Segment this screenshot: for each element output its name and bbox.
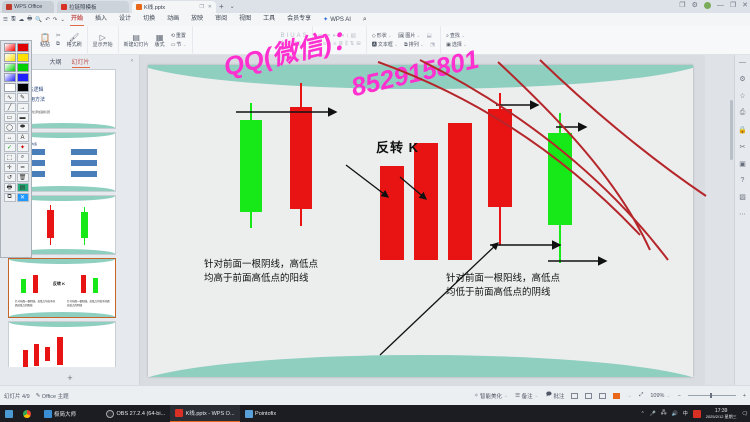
- qat-cloud-icon[interactable]: ☁: [19, 17, 25, 23]
- notes-label: 备注: [522, 392, 533, 400]
- thumb-band-top: [9, 259, 115, 264]
- color-swatch-blue[interactable]: [17, 73, 29, 82]
- taskbar-item-obs-label: OBS 27.2.4 (64-bi...: [117, 411, 166, 417]
- section-caret-icon[interactable]: ⌄: [182, 42, 186, 48]
- ime-icon[interactable]: 中: [683, 410, 688, 417]
- layout-label: 版式: [155, 42, 165, 48]
- document-tab-1[interactable]: 拉链照模板: [57, 1, 129, 13]
- tool-row-1: ∿ ✎: [4, 93, 29, 102]
- thumb-5-candle-3: [45, 347, 50, 361]
- tab-menu-caret-icon[interactable]: ⌄: [227, 1, 238, 13]
- textbox-icon: 🅰: [372, 41, 377, 48]
- candlestick-1-body: [240, 120, 262, 212]
- shapes-label: 形状: [377, 32, 387, 39]
- wps-logo-icon: [6, 4, 12, 10]
- new-slide-button[interactable]: ▤ 新建幻灯片: [122, 33, 151, 48]
- help-icon[interactable]: ?: [741, 177, 745, 184]
- rectangle-icon[interactable]: ▭: [4, 113, 16, 122]
- shapes-caret-icon[interactable]: ⌄: [388, 33, 392, 39]
- zoom-slider[interactable]: [688, 395, 736, 396]
- ellipse-icon[interactable]: ◯: [4, 123, 16, 132]
- start-show-label: 显示开始: [93, 42, 113, 48]
- tool-row-2: ╱ →: [4, 103, 29, 112]
- wps-home-tab[interactable]: WPS Office: [2, 1, 54, 13]
- slide-thumbnail-4[interactable]: 反转 K 针对前面一根阴线，高低点均高于前面高低点的阳线 针对前面一根阳线，高低…: [8, 258, 116, 318]
- zoom-level[interactable]: 109% ⌄: [650, 393, 670, 399]
- slide-thumbnail-5[interactable]: 这里是最下的那根阳线是最大的，后面的，往上的大多都是下破的阳线，往下的阳线，大致…: [8, 321, 116, 367]
- reading-view-icon[interactable]: [599, 393, 606, 399]
- volume-icon[interactable]: 🔊: [671, 411, 677, 417]
- pointofix-toolbar[interactable]: ∿ ✎ ╱ → ▭ ▬ ◯ ⬬ ↔ A ✓ ✦ ⬚ ⌕ ✛ ━ ↺ 🗑 🖶 ▤ …: [0, 40, 32, 258]
- add-slide-button[interactable]: +: [0, 373, 140, 383]
- settings-icon[interactable]: ⚙: [739, 75, 745, 83]
- shapes-icon[interactable]: ✂: [740, 143, 746, 151]
- filled-ellipse-icon[interactable]: ⬬: [17, 123, 29, 132]
- chrome-icon: [23, 410, 31, 418]
- ribbon-tab-design[interactable]: 设计: [113, 13, 137, 26]
- system-tray: ⌃ 🎤 🖧 🔊 中 17:39 2025/2/12 星期三 🗨: [640, 408, 748, 419]
- favorite-icon[interactable]: ☆: [739, 92, 745, 100]
- thumb-5-candle-1: [23, 350, 28, 367]
- ribbon-tab-bar: ☰ 🖫 ☁ 🖶 🔍 ↶ ↷ ⌄ 开始 插入 设计 切换 动画 放映 审阅 视图 …: [0, 13, 750, 26]
- group-objects-icon[interactable]: ⬔: [430, 42, 435, 48]
- shapes-icon: ◇: [372, 33, 376, 39]
- notes-caret-icon[interactable]: ⌄: [534, 393, 539, 399]
- thumb-band-bottom: [9, 312, 115, 317]
- tool-row-3: ▭ ▬: [4, 113, 29, 122]
- slide-sorter-icon[interactable]: [585, 393, 592, 399]
- folder-icon: [44, 410, 52, 418]
- candlestick-4-body: [414, 143, 438, 260]
- tool-row-8: ✛ ━: [4, 163, 29, 172]
- candlestick-3: [380, 166, 404, 260]
- section-icon: ▭: [171, 42, 176, 48]
- reset-button[interactable]: ⟲ 重置: [171, 32, 187, 39]
- shapes-button[interactable]: ◇ 形状 ⌄: [372, 32, 392, 39]
- beautify-caret-icon[interactable]: ⌄: [504, 393, 509, 399]
- close-button[interactable]: ✕: [742, 1, 748, 9]
- layout-button[interactable]: ▦ 版式: [153, 33, 167, 48]
- text-icon[interactable]: A: [17, 133, 29, 142]
- feedback-icon[interactable]: ▨: [739, 193, 746, 201]
- line-icon[interactable]: ╱: [4, 103, 16, 112]
- windows-start-icon: [5, 410, 13, 418]
- slideshow-icon[interactable]: [613, 393, 620, 399]
- document-tab-2-label: K线.pptx: [144, 3, 165, 11]
- print-icon[interactable]: 🖶: [4, 183, 16, 192]
- color-row-3: [4, 63, 29, 72]
- thumb-4-candle-1: [21, 279, 26, 293]
- quick-access-toolbar: ☰ 🖫 ☁ 🖶 🔍 ↶ ↷ ⌄: [0, 15, 65, 24]
- copy-icon[interactable]: ⧉: [56, 41, 61, 48]
- note-right: 针对前面一根阳线，高低点 均低于前面高低点的阴线: [446, 273, 560, 301]
- minimize-button[interactable]: —: [717, 2, 724, 9]
- comments-icon: 🗩: [546, 391, 552, 400]
- current-slide[interactable]: 反转 K 针对前面一根阴线，高低点 均高于前面高低点的阳线 针对前面一根阳线，高…: [148, 65, 693, 377]
- zoom-out-button[interactable]: −: [678, 393, 681, 399]
- close-icon[interactable]: ✕: [17, 193, 29, 202]
- color-swatch-green[interactable]: [17, 63, 29, 72]
- filled-rect-icon[interactable]: ▬: [17, 113, 29, 122]
- ribbon-tab-transition[interactable]: 切换: [137, 13, 161, 26]
- arrange-label: 排列: [409, 41, 419, 48]
- section-label: 节: [176, 41, 181, 48]
- avatar[interactable]: [704, 2, 711, 9]
- comments-button[interactable]: 🗩 批注: [546, 391, 565, 400]
- note-right-line2: 均低于前面高低点的阴线: [446, 287, 560, 301]
- paste-label: 粘贴: [40, 42, 50, 48]
- slide-editing-stage: 反转 K 针对前面一根阴线，高低点 均高于前面高低点的阳线 针对前面一根阳线，高…: [140, 55, 705, 385]
- picture-caret-icon[interactable]: ⌄: [416, 33, 420, 39]
- find-caret-icon[interactable]: ⌄: [461, 33, 465, 39]
- notes-icon: ☰: [515, 393, 520, 399]
- restore-down-icon[interactable]: ❐: [679, 1, 685, 9]
- thumb-2-box-2: [71, 149, 97, 155]
- tool-row-9: ↺ 🗑: [4, 173, 29, 182]
- find-label: 查找: [450, 32, 460, 39]
- paste-button[interactable]: 📋 粘贴: [38, 33, 52, 48]
- thumb-4-label: 反转 K: [53, 281, 65, 287]
- qat-preview-icon[interactable]: 🔍: [35, 17, 42, 23]
- new-slide-icon: ▤: [132, 33, 140, 42]
- find-button[interactable]: ⌕ 查找 ⌄: [446, 32, 467, 39]
- normal-view-icon[interactable]: [571, 393, 578, 399]
- ribbon-tab-slideshow[interactable]: 放映: [185, 13, 209, 26]
- slide-content: 反转 K 针对前面一根阴线，高低点 均高于前面高低点的阳线 针对前面一根阳线，高…: [148, 65, 693, 377]
- tray-date: 2025/2/12 星期三: [706, 414, 737, 419]
- ppt-icon: [136, 4, 142, 10]
- tool-row-4: ◯ ⬬: [4, 123, 29, 132]
- color-swatch-red[interactable]: [17, 43, 29, 52]
- status-bar: 幻灯片 4/9 ✎ Office 主题 ✧ 智能美化 ⌄ ☰ 备注 ⌄ 🗩 批注: [0, 385, 750, 405]
- tray-chevron-icon[interactable]: ⌃: [640, 411, 644, 417]
- beautify-icon: ✧: [474, 393, 479, 399]
- wps-home-tab-label: WPS Office: [14, 4, 42, 10]
- settings-gear-icon[interactable]: ⚙: [692, 1, 698, 9]
- zoom-caret-icon[interactable]: ⌄: [666, 393, 671, 399]
- ribbon-tab-home[interactable]: 开始: [65, 13, 89, 26]
- candlestick-7-body: [548, 133, 572, 225]
- tool-row-10: 🖶 ▤: [4, 183, 29, 192]
- maximize-button[interactable]: ❐: [730, 1, 736, 9]
- candlestick-6: [488, 93, 512, 245]
- zoom-in-icon[interactable]: ✛: [4, 163, 16, 172]
- stamp-icon[interactable]: ✦: [17, 143, 29, 152]
- tray-app-icon[interactable]: [693, 410, 701, 418]
- save-icon[interactable]: ▤: [17, 183, 29, 192]
- ribbon-group-slideshow: ▷ 显示开始: [88, 26, 119, 55]
- thumb-3-wick-red: [50, 205, 51, 245]
- align-objects-icon[interactable]: ⬓: [427, 33, 432, 39]
- notification-icon[interactable]: 🗨: [742, 411, 748, 417]
- freehand-icon[interactable]: ∿: [4, 93, 16, 102]
- window-controls: ❐ ⚙ — ❐ ✕: [679, 1, 748, 9]
- note-right-line1: 针对前面一根阳线，高低点: [446, 273, 560, 287]
- ribbon-tab-view[interactable]: 视图: [233, 13, 257, 26]
- textbox-label: 文本框: [378, 41, 393, 48]
- note-left: 针对前面一根阴线，高低点 均高于前面高低点的阳线: [204, 259, 318, 287]
- slide-counter: 幻灯片 4/9: [4, 392, 30, 400]
- color-swatch-yellow[interactable]: [17, 53, 29, 62]
- taskbar-item-chrome[interactable]: [18, 405, 39, 422]
- color-swatch-white[interactable]: [4, 83, 16, 92]
- theme-item[interactable]: ✎ Office 主题: [36, 392, 69, 400]
- comments-label: 批注: [553, 392, 564, 400]
- arrow-icon[interactable]: →: [17, 103, 29, 112]
- fit-to-window-icon[interactable]: ⤢: [639, 392, 643, 399]
- document-tab-1-label: 拉链照模板: [69, 3, 97, 11]
- thumb-4-note-left: 针对前面一根阴线，高低点均高于前面高低点的阳线: [15, 299, 57, 307]
- candlestick-2-body: [290, 107, 312, 209]
- tool-row-5: ↔ A: [4, 133, 29, 142]
- more-icon[interactable]: ⋯: [739, 210, 746, 218]
- ribbon-tab-animation[interactable]: 动画: [161, 13, 185, 26]
- search-icon: ⌕: [446, 33, 449, 39]
- collapse-panel-icon[interactable]: ‹: [131, 58, 133, 64]
- select-icon: ▣: [446, 42, 451, 48]
- thumb-4-note-right: 针对前面一根阳线，高低点均低于前面高低点的阴线: [67, 299, 111, 307]
- candlestick-3-body: [380, 166, 404, 260]
- clipboard-small-buttons: ✂ ⧉: [54, 26, 63, 55]
- thumbnail-wrapper-4: 反转 K 针对前面一根阴线，高低点均高于前面高低点的阳线 针对前面一根阳线，高低…: [8, 258, 132, 318]
- picture-label: 图片: [405, 32, 415, 39]
- qat-undo-icon[interactable]: ↶: [45, 17, 50, 23]
- taskbar-item-wps[interactable]: K线.pptx - WPS O...: [170, 405, 239, 422]
- paste-icon: 📋: [40, 33, 50, 42]
- new-slide-label: 新建幻灯片: [124, 42, 149, 48]
- candlestick-5: [448, 123, 472, 260]
- color-swatch-black[interactable]: [17, 83, 29, 92]
- color-swatch-yellow-gradient[interactable]: [4, 53, 16, 62]
- highlighter-icon[interactable]: ✓: [4, 143, 16, 152]
- slides-tab[interactable]: 幻灯片: [72, 57, 90, 66]
- taskbar-item-pointofix-label: Pointofix: [255, 411, 276, 417]
- textbox-caret-icon[interactable]: ⌄: [394, 42, 398, 48]
- pen-icon[interactable]: ✎: [17, 93, 29, 102]
- status-right: ✧ 智能美化 ⌄ ☰ 备注 ⌄ 🗩 批注 ⌄ ⤢ 109% ⌄: [474, 391, 746, 400]
- qat-save-icon[interactable]: 🖫: [11, 15, 16, 24]
- drawing-row-2: 🅰 文本框 ⌄ ⧉ 排列 ⌄ ⬔: [372, 41, 435, 48]
- slides-small-buttons: ⟲ 重置 ▭ 节 ⌄: [169, 26, 189, 55]
- thumb-band-top: [9, 322, 115, 327]
- tab-close-icon[interactable]: ✕: [208, 4, 212, 10]
- slideshow-caret-icon[interactable]: ⌄: [627, 393, 632, 399]
- ribbon-group-drawing: ◇ 形状 ⌄ 🖼 图片 ⌄ ⬓ 🅰 文本框 ⌄: [367, 26, 441, 55]
- reset-label: 重置: [176, 32, 186, 39]
- ribbon-tab-member[interactable]: 会员专享: [281, 13, 317, 26]
- ribbon-group-slides: ▤ 新建幻灯片 ▦ 版式 ⟲ 重置 ▭ 节 ⌄: [119, 26, 193, 55]
- windows-taskbar: 极简大师 OBS 27.2.4 (64-bi... K线.pptx - WPS …: [0, 405, 750, 422]
- outline-tab[interactable]: 大纲: [49, 57, 61, 66]
- tool-row-6: ✓ ✦: [4, 143, 29, 152]
- candlestick-1: [240, 103, 262, 228]
- thumb-4-candle-2: [33, 275, 38, 293]
- play-icon: ▷: [100, 33, 106, 42]
- thumb-4-candle-4: [93, 278, 98, 293]
- drawing-buttons: ◇ 形状 ⌄ 🖼 图片 ⌄ ⬓ 🅰 文本框 ⌄: [370, 26, 437, 55]
- tool-row-7: ⬚ ⌕: [4, 153, 29, 162]
- double-arrow-icon[interactable]: ↔: [4, 133, 16, 142]
- taskbar-item-folder-label: 极简大师: [54, 410, 76, 418]
- zoom-icon[interactable]: ⌕: [17, 153, 29, 162]
- theme-icon: ✎: [36, 393, 41, 399]
- beautify-label: 智能美化: [480, 392, 502, 400]
- color-swatch-red-gradient[interactable]: [4, 43, 16, 52]
- qat-redo-icon[interactable]: ↷: [53, 17, 58, 23]
- taskbar-item-folder[interactable]: 极简大师: [39, 405, 82, 422]
- thumb-5-candle-4: [57, 337, 63, 365]
- theme-label: Office 主题: [42, 392, 69, 400]
- note-left-line1: 针对前面一根阴线，高低点: [204, 259, 318, 273]
- thumb-5-candle-2: [34, 344, 39, 366]
- thumb-2-box-4: [71, 160, 97, 166]
- drawing-row-1: ◇ 形状 ⌄ 🖼 图片 ⌄ ⬓: [372, 32, 435, 39]
- taskbar-item-pointofix[interactable]: Pointofix: [240, 405, 282, 422]
- wps-office-window: WPS Office 拉链照模板 K线.pptx ❐ ✕ + ⌄ ❐ ⚙ — ❐…: [0, 0, 750, 405]
- tab-restore-icon[interactable]: ❐: [200, 4, 204, 10]
- color-row-2: [4, 53, 29, 62]
- qat-menu-icon[interactable]: ☰: [3, 17, 8, 23]
- thumb-2-box-6: [71, 171, 97, 177]
- obs-icon: [106, 410, 114, 418]
- pointofix-icon: [245, 410, 253, 418]
- candlestick-6-body: [488, 109, 512, 207]
- thumbnail-wrapper-5: 这里是最下的那根阳线是最大的，后面的，往上的大多都是下破的阳线，往下的阳线，大致…: [8, 321, 132, 367]
- notes-button[interactable]: ☰ 备注 ⌄: [515, 392, 539, 400]
- network-icon[interactable]: 🖧: [661, 410, 667, 418]
- cut-icon[interactable]: ✂: [56, 33, 61, 39]
- candlestick-7: [548, 113, 572, 263]
- arrange-caret-icon[interactable]: ⌄: [420, 42, 424, 48]
- ribbon-tab-tools[interactable]: 工具: [257, 13, 281, 26]
- start-button[interactable]: [0, 405, 18, 422]
- format-painter-label: 格式刷: [67, 42, 82, 48]
- picture-icon: 🖼: [398, 33, 404, 39]
- color-row-4: [4, 73, 29, 82]
- beautify-button[interactable]: ✧ 智能美化 ⌄: [474, 392, 508, 400]
- copy-icon[interactable]: ⧉: [4, 193, 16, 202]
- picture-button[interactable]: 🖼 图片 ⌄: [398, 32, 421, 39]
- color-row-1: [4, 43, 29, 52]
- zoom-out-icon[interactable]: ━: [17, 163, 29, 172]
- zoom-slider-knob[interactable]: [710, 393, 712, 398]
- format-painter-button[interactable]: 🖌 格式刷: [65, 33, 84, 48]
- reset-icon: ⟲: [171, 33, 175, 39]
- trash-icon[interactable]: 🗑: [17, 173, 29, 182]
- wps-icon: [175, 409, 183, 417]
- ribbon-tab-insert[interactable]: 插入: [89, 13, 113, 26]
- thumb-4-candle-3: [81, 275, 86, 293]
- color-row-5: [4, 83, 29, 92]
- ribbon-toolbar: 📋 粘贴 ✂ ⧉ 🖌 格式刷 ▷ 显示开始 ▤ 新建幻灯片: [0, 26, 750, 55]
- pdf-icon: [61, 4, 67, 10]
- layout-icon: ▦: [156, 33, 164, 42]
- collapse-rail-icon[interactable]: —: [739, 59, 746, 66]
- select-icon[interactable]: ⬚: [4, 153, 16, 162]
- ribbon-tab-review[interactable]: 审阅: [209, 13, 233, 26]
- color-swatch-blue-gradient[interactable]: [4, 73, 16, 82]
- taskbar-item-obs[interactable]: OBS 27.2.4 (64-bi...: [101, 405, 170, 422]
- candlestick-5-body: [448, 123, 472, 260]
- stage-scrollbar[interactable]: [730, 100, 733, 160]
- candlestick-4: [414, 143, 438, 260]
- reversal-k-label: 反转 K: [376, 137, 419, 156]
- document-tab-2[interactable]: K线.pptx ❐ ✕: [132, 1, 216, 13]
- section-button[interactable]: ▭ 节 ⌄: [171, 41, 187, 48]
- tool-row-11: ⧉ ✕: [4, 193, 29, 202]
- arrange-icon: ⧉: [404, 42, 408, 48]
- textbox-button[interactable]: 🅰 文本框 ⌄: [372, 41, 398, 48]
- status-left: 幻灯片 4/9 ✎ Office 主题: [0, 392, 69, 400]
- thumb-3-wick-green: [84, 207, 85, 245]
- color-swatch-green-gradient[interactable]: [4, 63, 16, 72]
- share-icon[interactable]: ⎙: [740, 109, 746, 117]
- new-tab-button[interactable]: +: [216, 1, 227, 13]
- note-left-line2: 均高于前面高低点的阳线: [204, 273, 318, 287]
- image-icon[interactable]: ▣: [739, 160, 746, 168]
- taskbar-item-wps-label: K线.pptx - WPS O...: [186, 409, 235, 417]
- candlestick-2: [290, 83, 312, 226]
- title-bar: WPS Office 拉链照模板 K线.pptx ❐ ✕ + ⌄ ❐ ⚙ — ❐…: [0, 0, 750, 13]
- zoom-label: 109%: [650, 393, 664, 399]
- microphone-icon[interactable]: 🎤: [650, 411, 656, 417]
- undo-icon[interactable]: ↺: [4, 173, 16, 182]
- right-tool-rail: — ⚙ ☆ ⎙ 🔒 ✂ ▣ ? ▨ ⋯: [734, 55, 750, 385]
- qat-print-icon[interactable]: 🖶: [27, 15, 32, 24]
- format-painter-icon: 🖌: [69, 33, 79, 42]
- ribbon-search-icon[interactable]: ⌕: [357, 13, 373, 26]
- zoom-in-button[interactable]: +: [743, 393, 746, 399]
- arrange-button[interactable]: ⧉ 排列 ⌄: [404, 41, 424, 48]
- lock-icon[interactable]: 🔒: [738, 126, 747, 134]
- tray-clock[interactable]: 17:39 2025/2/12 星期三: [706, 408, 737, 419]
- start-show-button[interactable]: ▷ 显示开始: [91, 33, 115, 48]
